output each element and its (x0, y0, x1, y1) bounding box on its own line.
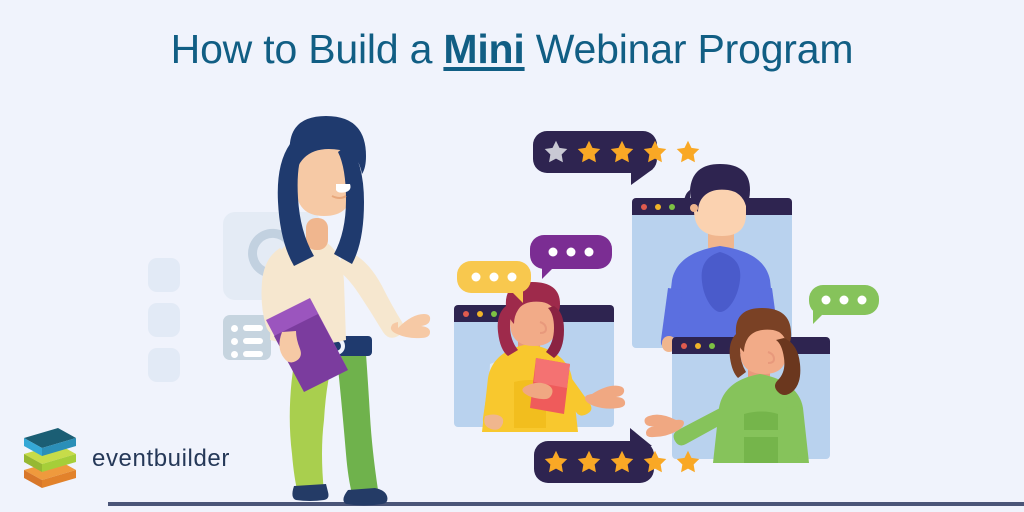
bubble-body (530, 235, 612, 269)
stacked-cube-logo-icon (22, 428, 78, 490)
star-icon-filled (609, 449, 635, 475)
illustration-canvas: How to Build a Mini Webinar Program even… (0, 0, 1024, 512)
figure-woman-green (640, 308, 850, 463)
title-part-1: How to Build a (171, 26, 444, 72)
bubble-tail (542, 265, 556, 279)
star-icon-filled (642, 449, 668, 475)
bubble-tail (813, 311, 826, 324)
background-square-1 (148, 258, 180, 292)
rating-bubble-bottom (534, 427, 654, 485)
star-icon-empty (543, 139, 569, 165)
background-square-2 (148, 303, 180, 337)
background-square-3 (148, 348, 180, 382)
bubble-tail (509, 289, 523, 303)
star-icon-filled (675, 139, 701, 165)
bubble-tail (631, 169, 653, 185)
typing-dots (472, 273, 517, 282)
star-icon-filled (576, 139, 602, 165)
star-icon-filled (543, 449, 569, 475)
typing-dots (822, 296, 867, 305)
figure-main-presenter (240, 100, 450, 506)
typing-bubble-purple (530, 235, 612, 281)
star-rating (543, 139, 701, 165)
checklist-bullet-2 (231, 338, 238, 345)
title-emphasis: Mini (443, 26, 524, 72)
brand-name: eventbuilder (92, 445, 230, 473)
brand-logo[interactable]: eventbuilder (22, 428, 230, 490)
star-icon-filled (642, 139, 668, 165)
typing-bubble-yellow (457, 261, 531, 307)
typing-bubble-green (809, 285, 879, 329)
star-icon-filled (609, 139, 635, 165)
checklist-bullet-1 (231, 325, 238, 332)
title-part-2: Webinar Program (525, 26, 854, 72)
star-icon-filled (576, 449, 602, 475)
rating-bubble-top (533, 131, 657, 179)
star-icon-filled (675, 449, 701, 475)
typing-dots (549, 248, 594, 257)
checklist-bullet-3 (231, 351, 238, 358)
page-title: How to Build a Mini Webinar Program (0, 26, 1024, 73)
star-rating (543, 449, 701, 475)
